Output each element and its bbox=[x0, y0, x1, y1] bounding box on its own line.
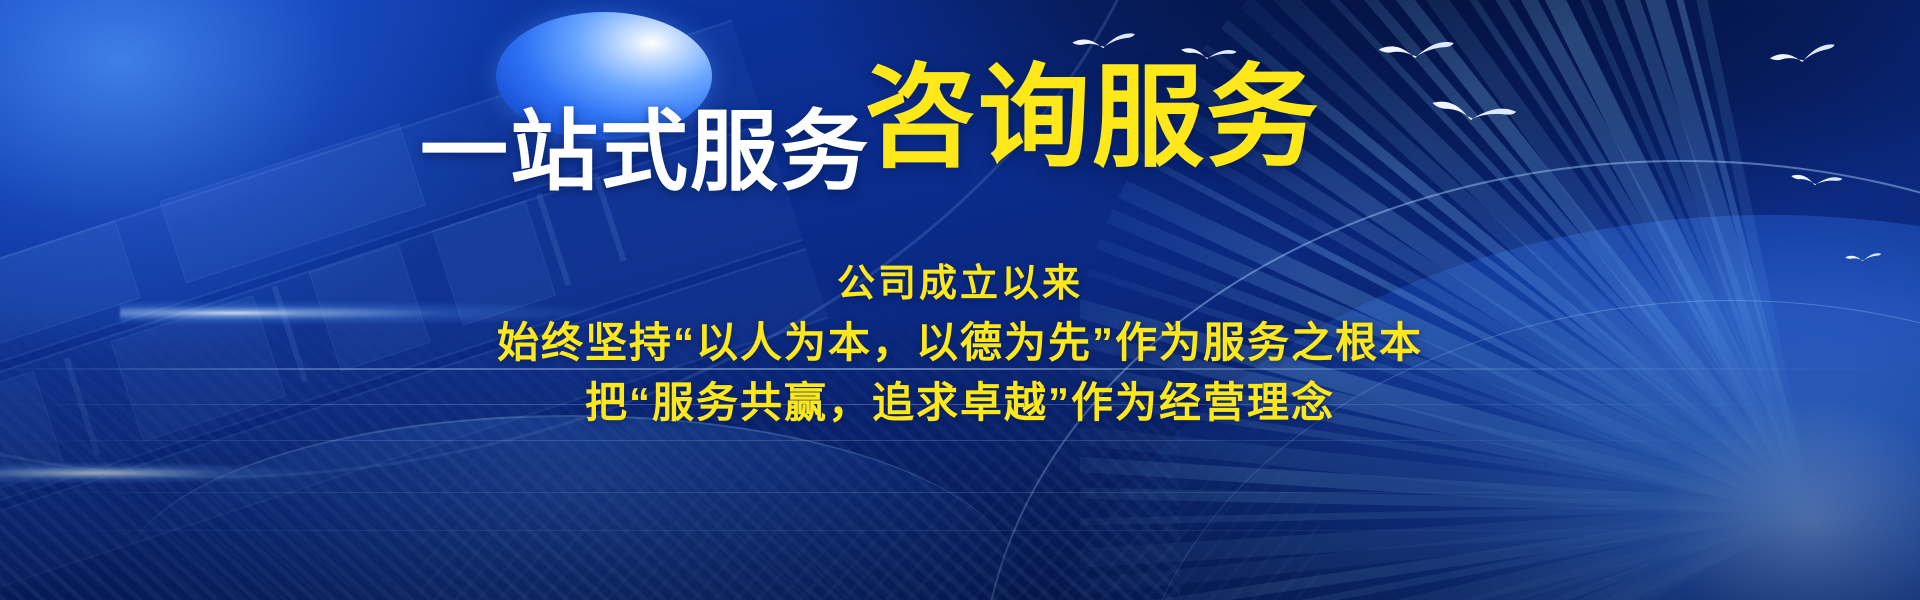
page-title: 一站式服务咨询服务 bbox=[0, 84, 1920, 196]
tagline-block: 公司成立以来 始终坚持“以人为本，以德为先”作为服务之根本 把“服务共赢，追求卓… bbox=[0, 258, 1920, 432]
tagline-line-2: 始终坚持“以人为本，以德为先”作为服务之根本 bbox=[0, 314, 1920, 372]
headline-primary: 一站式服务 bbox=[420, 102, 870, 201]
lens-flare bbox=[0, 462, 320, 484]
light-streak bbox=[0, 492, 1920, 493]
tagline-line-1: 公司成立以来 bbox=[0, 258, 1920, 310]
light-streak bbox=[0, 530, 1920, 531]
promotional-banner: 一站式服务咨询服务 公司成立以来 始终坚持“以人为本，以德为先”作为服务之根本 … bbox=[0, 0, 1920, 600]
tagline-line-3: 把“服务共赢，追求卓越”作为经营理念 bbox=[0, 374, 1920, 432]
seagull-3-icon bbox=[1377, 37, 1456, 74]
light-streak bbox=[0, 440, 1920, 441]
headline-accent: 咨询服务 bbox=[864, 55, 1320, 180]
